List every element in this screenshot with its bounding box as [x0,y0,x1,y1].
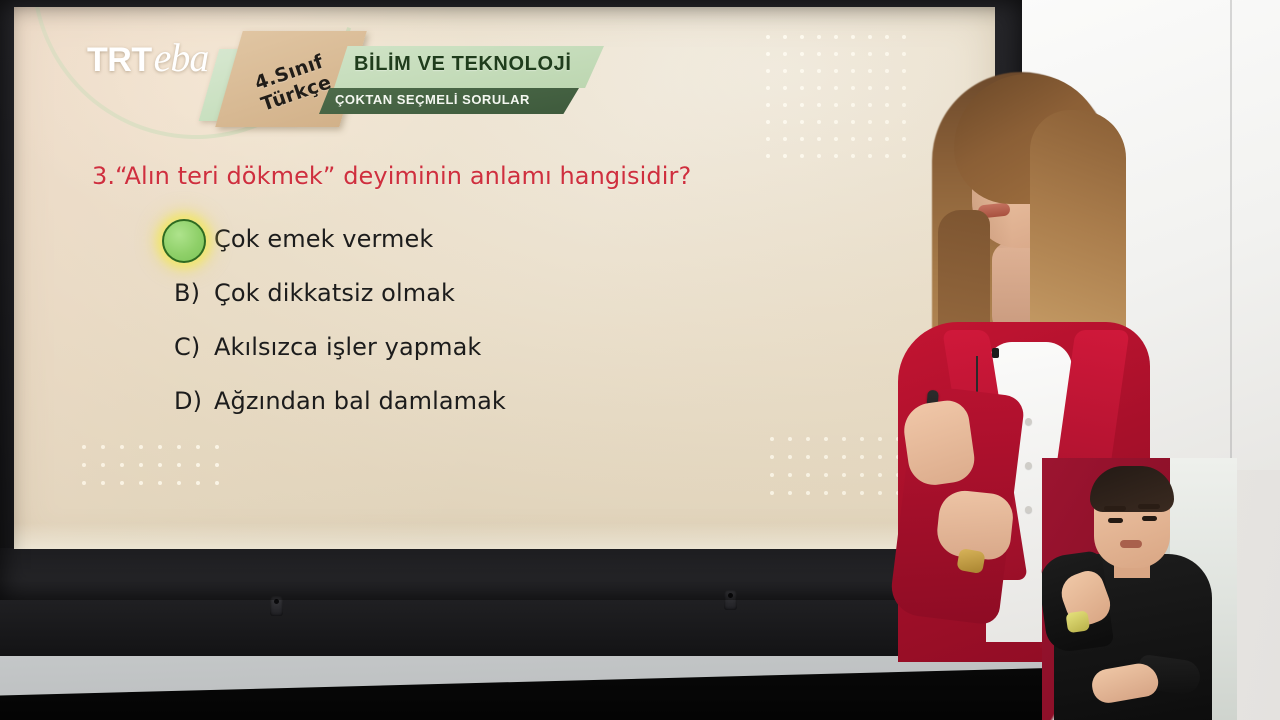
sign-language-interpreter-inset [1042,458,1237,720]
interpreter-eye-right [1142,516,1157,521]
interpreter-wristwatch-icon [1065,610,1090,633]
interpreter-eyebrow-left [1104,506,1126,511]
interpreter-hair [1090,466,1174,512]
presenter-wristwatch-icon [956,548,985,574]
video-frame: TRT eba 4.Sınıf Türkçe BİLİM VE TEKNOLOJ… [0,0,1280,720]
interpreter-mouth [1120,540,1142,548]
smartboard-inner-shadow [0,0,1022,600]
presenter-blouse-button [1025,462,1032,469]
presenter-blouse-button [1025,506,1032,513]
interpreter-eye-left [1108,518,1123,523]
presenter-blouse-button [1025,418,1032,425]
interpreter-eyebrow-right [1138,504,1160,509]
studio-wall-seam [1230,0,1232,470]
